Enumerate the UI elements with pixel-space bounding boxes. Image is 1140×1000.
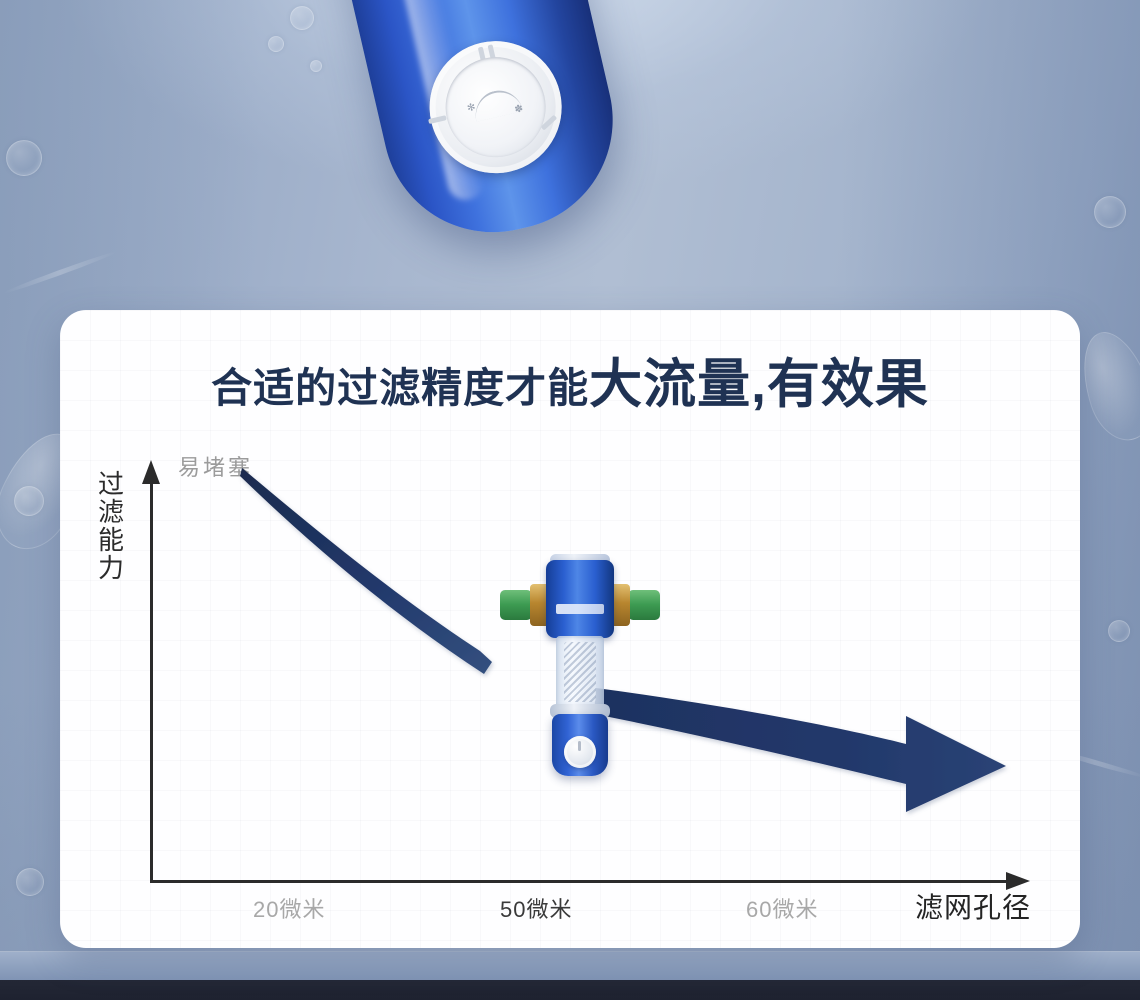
water-bubble-icon <box>268 36 284 52</box>
water-bubble-icon <box>16 868 44 896</box>
green-pipe-right <box>628 590 660 620</box>
chart-area: 过 滤 能 力 易堵塞 效果差 20微米 50微米 60微米 滤网孔径 <box>60 310 1080 948</box>
dial-inner-face: ✻ ✽ <box>436 47 556 167</box>
water-bubble-icon <box>290 6 314 30</box>
brand-logo <box>556 604 604 614</box>
water-bubble-icon <box>1108 620 1130 642</box>
bottom-dark-band <box>0 980 1140 1000</box>
green-pipe-left <box>500 590 532 620</box>
center-product-prefilter <box>500 542 660 787</box>
dial-tick <box>428 115 447 124</box>
curve-descending-left <box>240 468 492 674</box>
info-card: 合适的过滤精度才能大流量,有效果 过 滤 能 力 易堵塞 效果差 20微米 50… <box>60 310 1080 948</box>
filter-blue-head <box>546 560 614 638</box>
drain-knob <box>564 736 596 768</box>
drain-knob-indicator <box>578 741 581 751</box>
water-bubble-icon <box>1094 196 1126 228</box>
dial-glyph-right: ✽ <box>514 103 525 116</box>
water-bubble-icon <box>310 60 322 72</box>
filter-mesh-screen <box>564 642 596 702</box>
dial-glyph-left: ✻ <box>466 102 477 115</box>
bottom-light-band <box>0 951 1140 982</box>
water-bubble-icon <box>6 140 42 176</box>
